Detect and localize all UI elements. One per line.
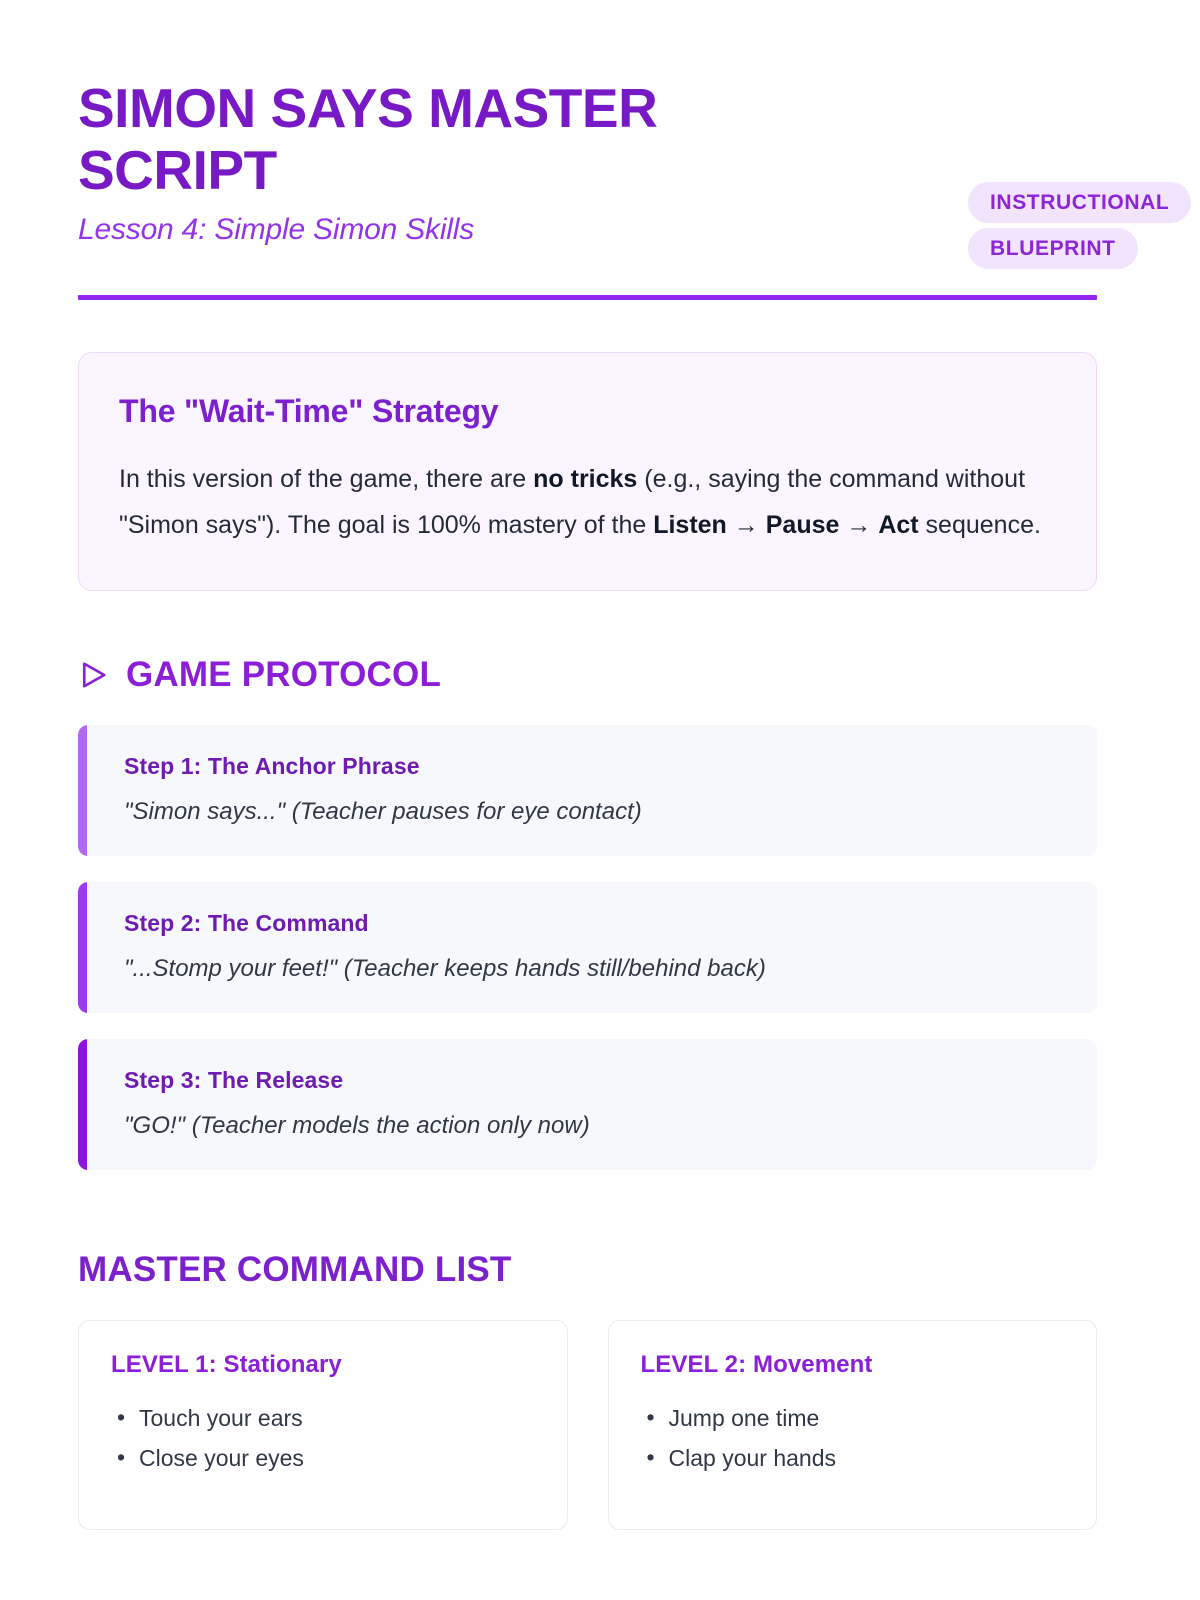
level-command-list: Touch your ears Close your eyes: [111, 1399, 535, 1478]
strategy-callout: The "Wait-Time" Strategy In this version…: [78, 352, 1097, 591]
level-card: LEVEL 1: Stationary Touch your ears Clos…: [78, 1320, 568, 1530]
section-title-master-command-list: MASTER COMMAND LIST: [78, 1250, 1097, 1290]
level-title: LEVEL 2: Movement: [641, 1351, 1065, 1379]
list-item: Close your eyes: [111, 1439, 535, 1479]
callout-text-3: sequence.: [919, 511, 1041, 539]
step-card: Step 2: The Command "...Stomp your feet!…: [78, 882, 1097, 1013]
step-script-line: "GO!" (Teacher models the action only no…: [124, 1112, 1063, 1140]
header-title-block: SIMON SAYS MASTER SCRIPT Lesson 4: Simpl…: [78, 78, 698, 247]
step-card: Step 3: The Release "GO!" (Teacher model…: [78, 1039, 1097, 1170]
page-subtitle: Lesson 4: Simple Simon Skills: [78, 213, 698, 247]
level-command-list: Jump one time Clap your hands: [641, 1399, 1065, 1478]
step-card: Step 1: The Anchor Phrase "Simon says...…: [78, 725, 1097, 856]
play-triangle-outline-icon: [78, 659, 108, 691]
document-page: SIMON SAYS MASTER SCRIPT Lesson 4: Simpl…: [0, 0, 1200, 1600]
badge-container: INSTRUCTIONAL BLUEPRINT: [968, 180, 1200, 272]
callout-bold-act: Act: [878, 511, 918, 539]
page-title: SIMON SAYS MASTER SCRIPT: [78, 78, 698, 201]
step-title: Step 3: The Release: [124, 1067, 1063, 1094]
level-title: LEVEL 1: Stationary: [111, 1351, 535, 1379]
level-card-grid: LEVEL 1: Stationary Touch your ears Clos…: [78, 1320, 1097, 1530]
game-protocol-heading: GAME PROTOCOL: [78, 655, 1097, 695]
callout-text-1: In this version of the game, there are: [119, 465, 533, 493]
callout-bold-pause: Pause: [766, 511, 840, 539]
step-title: Step 1: The Anchor Phrase: [124, 753, 1063, 780]
callout-bold-listen: Listen: [653, 511, 727, 539]
header-divider: [78, 295, 1097, 300]
list-item: Clap your hands: [641, 1439, 1065, 1479]
list-item: Touch your ears: [111, 1399, 535, 1439]
step-script-line: "Simon says..." (Teacher pauses for eye …: [124, 798, 1063, 826]
callout-title: The "Wait-Time" Strategy: [119, 393, 1056, 430]
callout-body: In this version of the game, there are n…: [119, 456, 1056, 548]
callout-arrow-2: →: [839, 511, 878, 539]
status-badge: INSTRUCTIONAL BLUEPRINT: [968, 182, 1191, 269]
callout-arrow-1: →: [727, 511, 766, 539]
section-title-game-protocol: GAME PROTOCOL: [126, 655, 441, 695]
protocol-step-list: Step 1: The Anchor Phrase "Simon says...…: [78, 725, 1097, 1170]
step-title: Step 2: The Command: [124, 910, 1063, 937]
level-card: LEVEL 2: Movement Jump one time Clap you…: [608, 1320, 1098, 1530]
callout-bold-no-tricks: no tricks: [533, 465, 637, 493]
document-header: SIMON SAYS MASTER SCRIPT Lesson 4: Simpl…: [78, 78, 1097, 261]
list-item: Jump one time: [641, 1399, 1065, 1439]
step-script-line: "...Stomp your feet!" (Teacher keeps han…: [124, 955, 1063, 983]
